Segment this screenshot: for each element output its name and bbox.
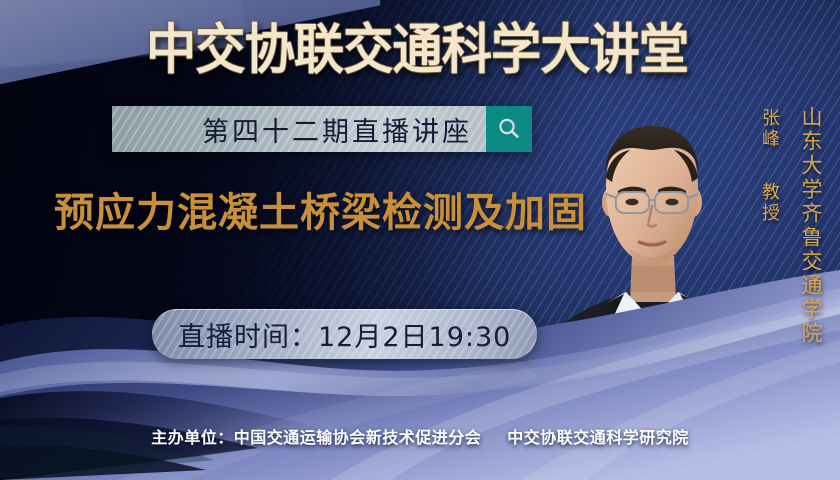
search-button[interactable] bbox=[486, 106, 532, 152]
speaker-name: 张峰 bbox=[756, 108, 782, 150]
footer-organizer-label: 主办单位：中国交通运输协会新技术促进分会 bbox=[151, 428, 481, 447]
page-title: 中交协联交通科学大讲堂 bbox=[146, 19, 688, 81]
live-time-label: 直播时间：12月2日19:30 bbox=[178, 315, 511, 354]
speaker-organization: 山东大学齐鲁交通学院 bbox=[796, 106, 826, 346]
episode-banner: 第四十二期直播讲座 bbox=[112, 106, 532, 152]
speaker-title: 教授 bbox=[756, 182, 782, 224]
episode-label: 第四十二期直播讲座 bbox=[202, 110, 486, 149]
footer-organizers: 主办单位：中国交通运输协会新技术促进分会中交协联交通科学研究院 bbox=[0, 424, 840, 448]
search-icon bbox=[496, 116, 522, 142]
live-time-badge: 直播时间：12月2日19:30 bbox=[152, 309, 537, 359]
lecture-topic: 预应力混凝土桥梁检测及加固 bbox=[54, 186, 587, 240]
silk-ribbon-decoration bbox=[0, 270, 840, 480]
footer-institute: 中交协联交通科学研究院 bbox=[507, 428, 689, 447]
livestream-poster: 中交协联交通科学大讲堂 第四十二期直播讲座 预应力混凝土桥梁检测及加固 直播时间… bbox=[0, 0, 840, 480]
episode-banner-body: 第四十二期直播讲座 bbox=[112, 106, 486, 152]
